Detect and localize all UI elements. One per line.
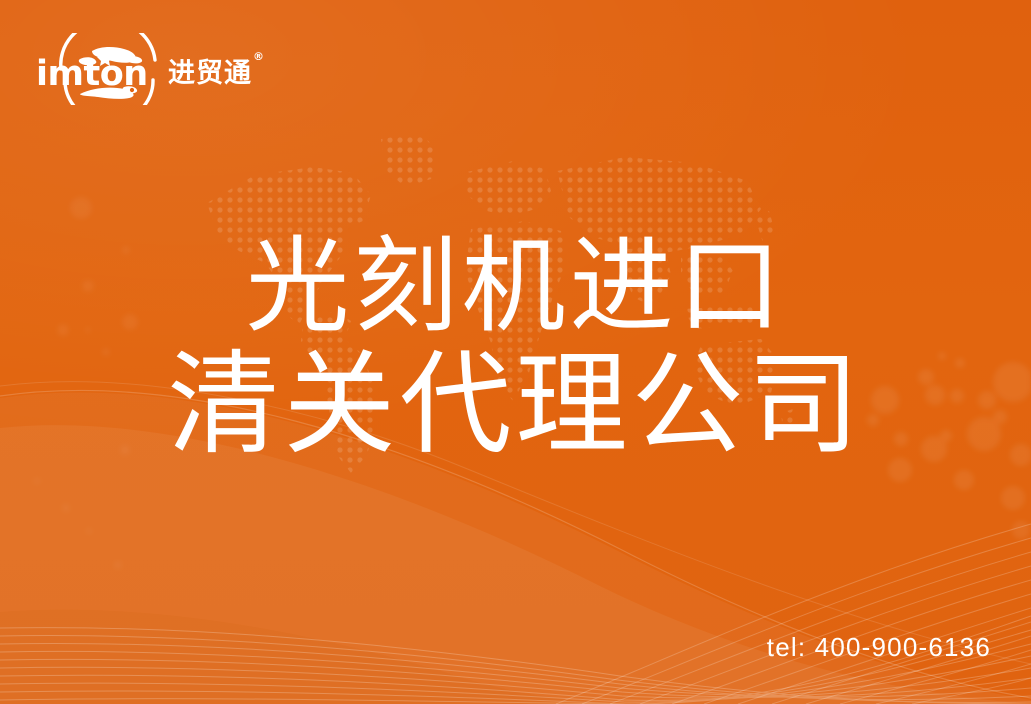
headline: 光刻机进口 清关代理公司 [0, 228, 1031, 466]
promo-banner: imton 进贸通 ® 光刻机进口 清关代理公司 tel: 400-900-61… [0, 0, 1031, 704]
logo-chinese-text: 进贸通 [168, 58, 252, 89]
headline-line-2: 清关代理公司 [0, 344, 1031, 466]
telephone-text: tel: 400-900-6136 [767, 634, 991, 660]
logo-chinese-name: 进贸通 ® [168, 52, 252, 87]
brand-logo[interactable]: imton 进贸通 ® [36, 33, 276, 105]
logo-wordmark: imton [36, 54, 148, 94]
registered-trademark-icon: ® [253, 51, 265, 62]
headline-line-1: 光刻机进口 [0, 228, 1031, 344]
